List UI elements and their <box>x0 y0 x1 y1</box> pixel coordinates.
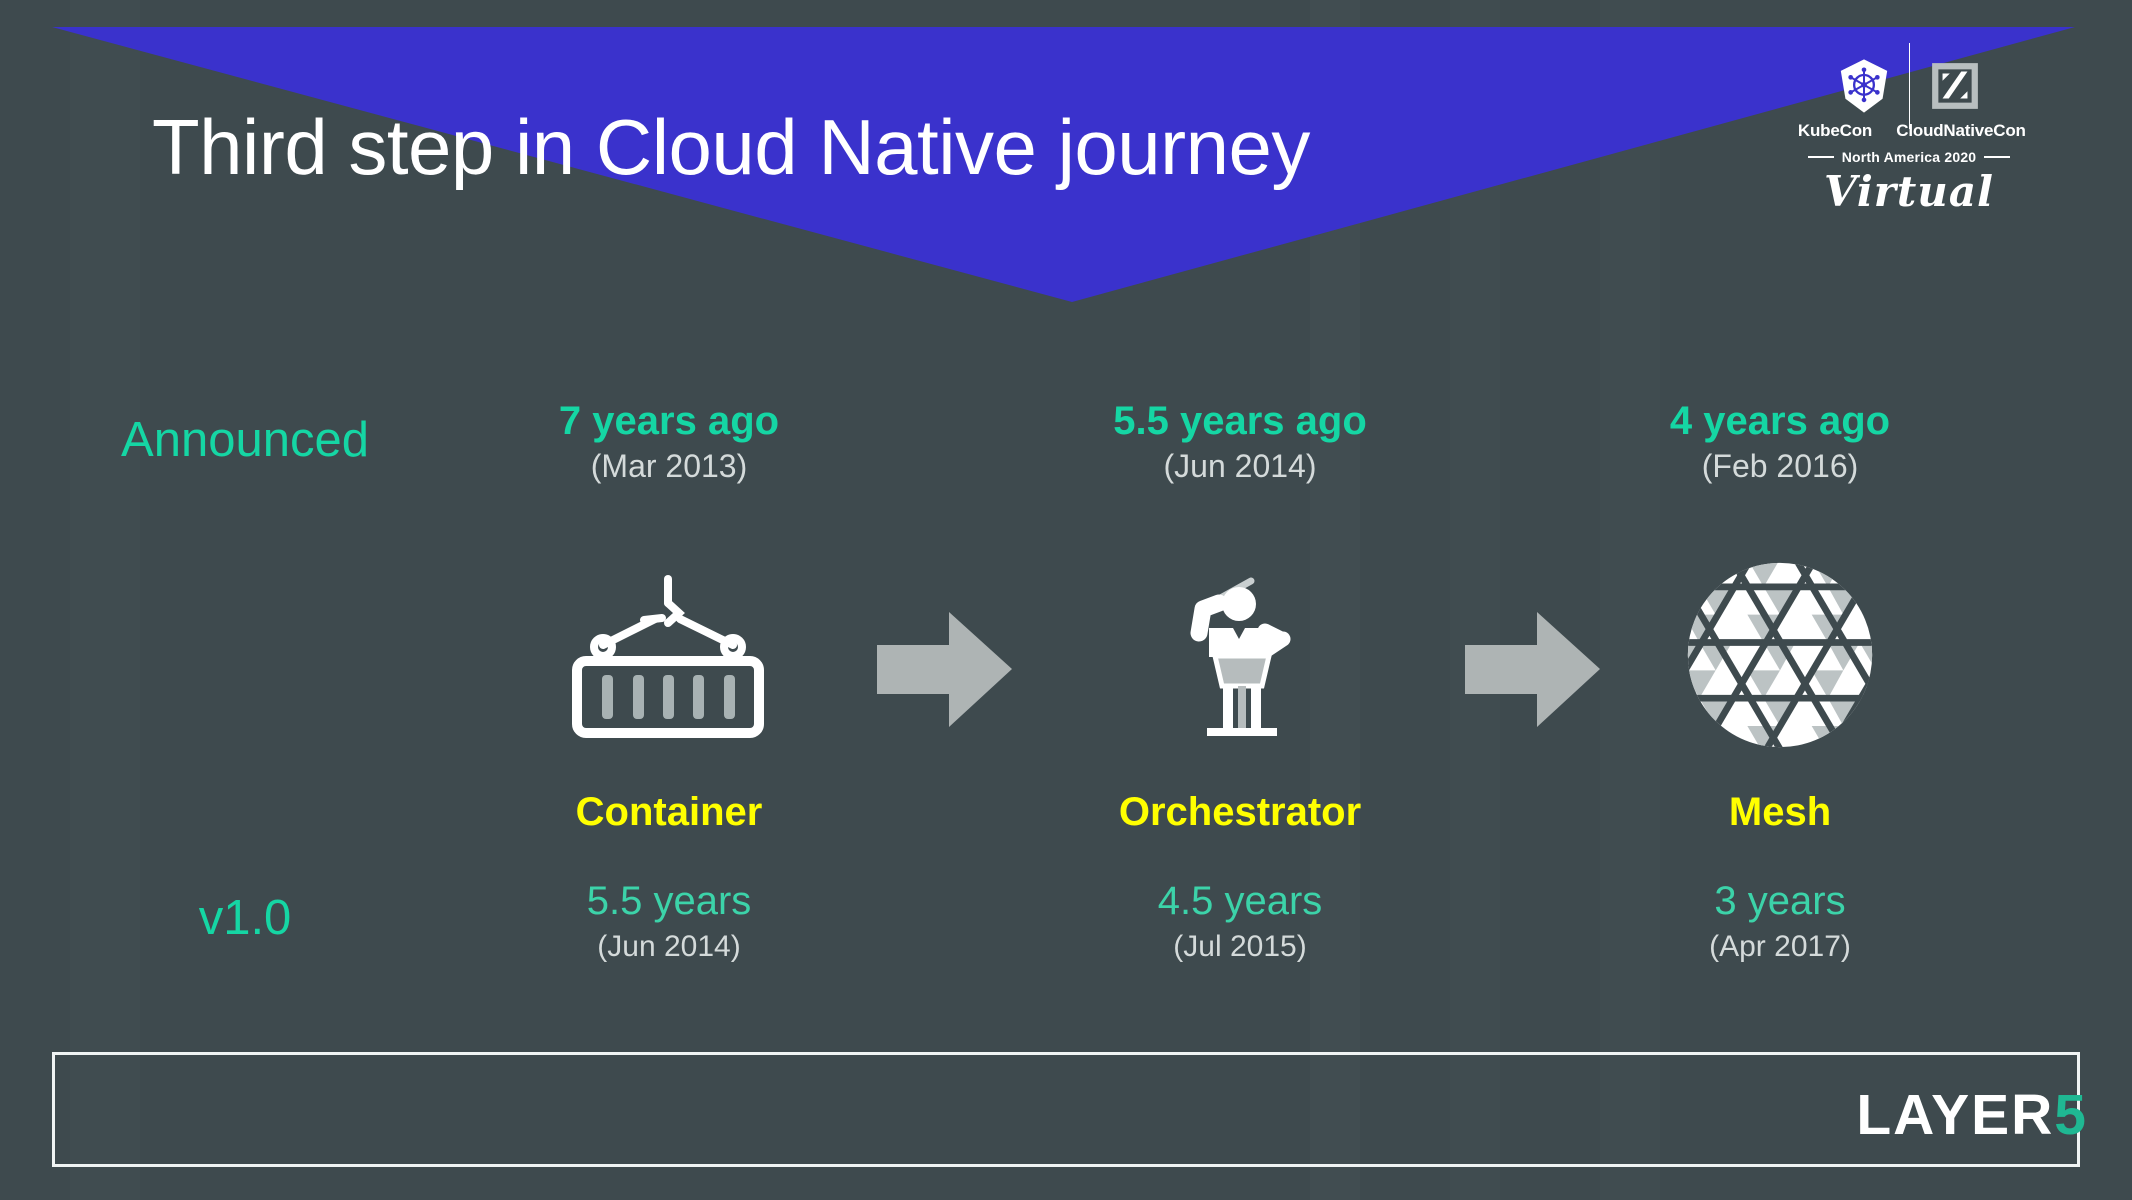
step-name: Container <box>459 790 879 835</box>
region-year-label: North America 2020 <box>1842 149 1977 165</box>
arrow-right-icon <box>877 612 1012 727</box>
announced-cell-mesh: 4 years ago (Feb 2016) <box>1570 400 1990 485</box>
footer-box <box>52 1052 2080 1167</box>
step-name-cell-orchestrator: Orchestrator <box>1030 790 1450 835</box>
announced-cell-container: 7 years ago (Mar 2013) <box>459 400 879 485</box>
v1-cell-container: 5.5 years (Jun 2014) <box>459 880 879 964</box>
icon-cell-orchestrator <box>1030 565 1450 745</box>
cncf-square-icon <box>1924 55 1986 117</box>
layer5-word: LAYER <box>1856 1082 2054 1148</box>
row-label-v1: v1.0 <box>55 890 435 946</box>
kubecon-cloudnativecon-logo: KubeCon CloudNativeCon North America 202… <box>1776 55 2042 235</box>
v1-age: 3 years <box>1570 880 1990 922</box>
kubernetes-helm-icon <box>1833 55 1895 117</box>
step-name: Mesh <box>1570 790 1990 835</box>
step-name: Orchestrator <box>1030 790 1450 835</box>
kubecon-label: KubeCon <box>1783 121 1887 141</box>
icon-cell-container <box>459 565 879 745</box>
layer5-logo: LAYER 5 <box>1856 1082 2088 1148</box>
v1-cell-orchestrator: 4.5 years (Jul 2015) <box>1030 880 1450 964</box>
v1-date: (Jun 2014) <box>459 930 879 964</box>
logo-rule-right <box>1984 156 2010 158</box>
announced-cell-orchestrator: 5.5 years ago (Jun 2014) <box>1030 400 1450 485</box>
mesh-circle-icon <box>1684 559 1876 751</box>
conductor-icon <box>1165 573 1315 738</box>
announced-date: (Jun 2014) <box>1030 448 1450 485</box>
v1-date: (Apr 2017) <box>1570 930 1990 964</box>
announced-age: 4 years ago <box>1570 400 1990 442</box>
v1-age: 4.5 years <box>1030 880 1450 922</box>
page-title: Third step in Cloud Native journey <box>152 108 1310 186</box>
layer5-digit: 5 <box>2054 1082 2088 1148</box>
v1-date: (Jul 2015) <box>1030 930 1450 964</box>
shipping-container-icon <box>567 573 772 738</box>
v1-cell-mesh: 3 years (Apr 2017) <box>1570 880 1990 964</box>
row-label-announced: Announced <box>55 412 435 468</box>
step-name-cell-container: Container <box>459 790 879 835</box>
cloudnativecon-label: CloudNativeCon <box>1887 121 2035 141</box>
step-name-cell-mesh: Mesh <box>1570 790 1990 835</box>
announced-date: (Mar 2013) <box>459 448 879 485</box>
logo-rule-left <box>1808 156 1834 158</box>
icon-cell-mesh <box>1570 565 1990 745</box>
logo-divider <box>1909 43 1910 129</box>
v1-age: 5.5 years <box>459 880 879 922</box>
announced-date: (Feb 2016) <box>1570 448 1990 485</box>
announced-age: 7 years ago <box>459 400 879 442</box>
announced-age: 5.5 years ago <box>1030 400 1450 442</box>
virtual-label: Virtual <box>1776 167 2042 216</box>
